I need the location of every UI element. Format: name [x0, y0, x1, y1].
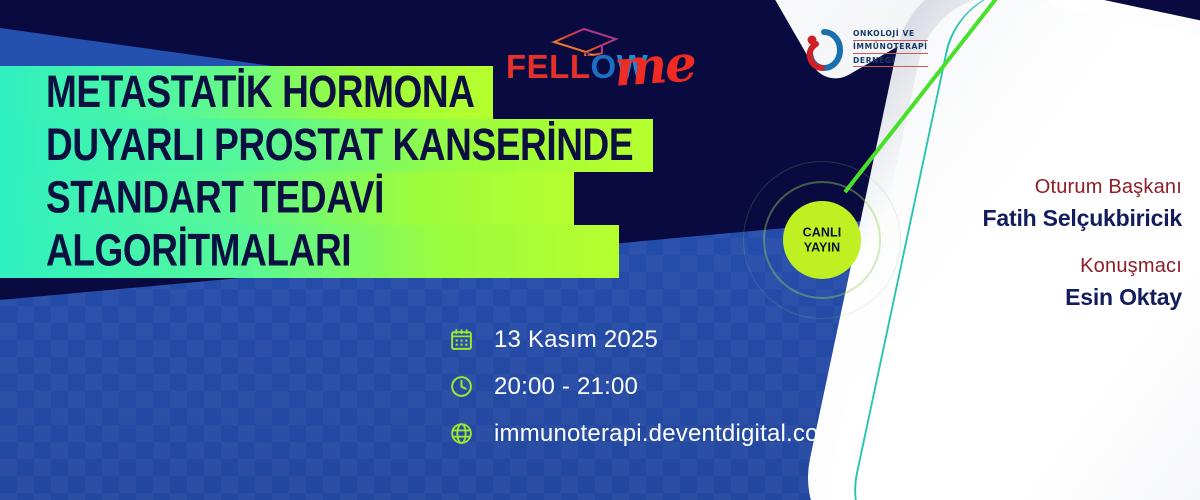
page-title: METASTATİK HORMONA DUYARLI PROSTAT KANSE…	[0, 66, 680, 278]
chair-name: Fatih Selçukbiricik	[862, 202, 1182, 235]
webinar-banner: METASTATİK HORMONA DUYARLI PROSTAT KANSE…	[0, 0, 1200, 500]
event-time: 20:00 - 21:00	[494, 373, 638, 401]
title-line-2: DUYARLI PROSTAT KANSERİNDE	[0, 119, 653, 172]
title-line-1: METASTATİK HORMONA	[0, 66, 493, 119]
society-name: ONKOLOJİ VE İMMÜNOTERAPİ DERNEĞİ	[853, 29, 928, 69]
live-badge-line-1: CANLI	[803, 225, 842, 239]
live-badge-text: CANLI YAYIN	[803, 225, 842, 255]
title-line-4: ALGORİTMALARI	[0, 225, 619, 278]
detail-row-time: 20:00 - 21:00	[448, 363, 839, 410]
fellowme-logo: FELLOW me	[506, 28, 716, 90]
speaker-name: Esin Oktay	[862, 281, 1182, 314]
globe-icon	[448, 421, 474, 447]
society-logo: ONKOLOJİ VE İMMÜNOTERAPİ DERNEĞİ	[800, 26, 928, 72]
speaker-role: Konuşmacı	[862, 251, 1182, 281]
fellowme-script: me	[612, 33, 697, 97]
society-line-1: ONKOLOJİ VE	[853, 29, 928, 41]
event-date: 13 Kasım 2025	[494, 326, 658, 354]
society-line-3: DERNEĞİ	[853, 56, 928, 68]
title-line-3: STANDART TEDAVİ	[0, 172, 574, 225]
detail-row-date: 13 Kasım 2025	[448, 316, 839, 363]
clock-icon	[448, 374, 474, 400]
society-logo-mark	[800, 26, 846, 72]
speaker-list: Oturum Başkanı Fatih Selçukbiricik Konuş…	[862, 172, 1182, 331]
society-line-2: İMMÜNOTERAPİ	[853, 42, 928, 54]
calendar-icon	[448, 327, 474, 353]
detail-row-website[interactable]: immunoterapi.deventdigital.com	[448, 410, 839, 457]
event-website[interactable]: immunoterapi.deventdigital.com	[494, 420, 839, 448]
event-details: 13 Kasım 2025 20:00 - 21:00 immunoterapi…	[448, 316, 839, 457]
chair-role: Oturum Başkanı	[862, 172, 1182, 202]
live-badge-line-2: YAYIN	[804, 240, 840, 254]
